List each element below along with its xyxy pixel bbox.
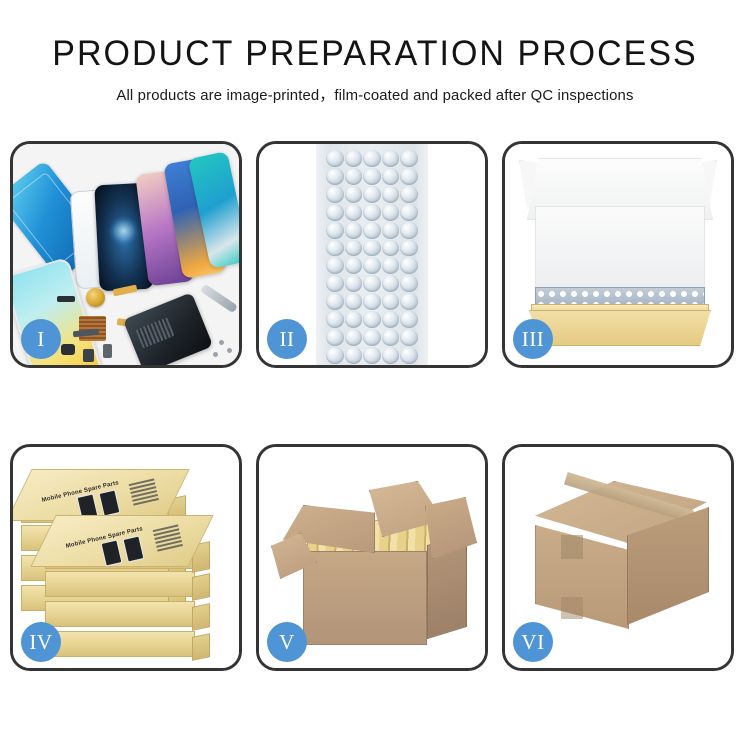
step-panel-5: V xyxy=(256,444,488,671)
step-panel-6: VI xyxy=(502,444,734,671)
bubble xyxy=(363,293,381,310)
tape-patch-lower xyxy=(561,597,583,619)
bubble xyxy=(400,275,418,292)
bubble xyxy=(400,186,418,203)
bubble xyxy=(382,168,400,185)
page-subtitle: All products are image-printed，film-coat… xyxy=(8,83,743,105)
bubble xyxy=(400,257,418,274)
bubble xyxy=(400,168,418,185)
bubble xyxy=(382,204,400,221)
bubble-grid xyxy=(326,150,418,364)
kraft-box xyxy=(45,571,195,597)
bubble xyxy=(345,311,363,328)
step-panel-3: III xyxy=(502,141,734,368)
step-panel-1: I xyxy=(10,141,242,368)
bubble xyxy=(326,293,344,310)
bubble xyxy=(382,347,400,364)
header: PRODUCT PREPARATION PROCESS All products… xyxy=(0,0,750,105)
tape-patch-upper xyxy=(561,535,583,559)
bubble xyxy=(382,257,400,274)
step-panel-4: Mobile Phone Spare Parts Mobile Phone Sp… xyxy=(10,444,242,671)
bubble xyxy=(363,257,381,274)
bubble xyxy=(363,168,381,185)
bubble xyxy=(382,150,400,167)
bubble xyxy=(400,240,418,257)
bubble xyxy=(363,240,381,257)
bubble xyxy=(326,186,344,203)
bubble xyxy=(345,329,363,346)
step-badge-5: V xyxy=(267,622,307,662)
foam-lining xyxy=(535,206,705,290)
chip-part xyxy=(103,344,112,358)
bubble xyxy=(400,311,418,328)
step-badge-3: III xyxy=(513,319,553,359)
bubble xyxy=(326,168,344,185)
carton-flap-right xyxy=(425,497,477,559)
chip-part xyxy=(61,344,75,355)
bubble xyxy=(326,347,344,364)
bubble xyxy=(382,275,400,292)
kraft-box-front xyxy=(529,310,711,346)
bubble xyxy=(345,257,363,274)
bubble xyxy=(363,347,381,364)
bubble xyxy=(345,275,363,292)
bubble xyxy=(400,150,418,167)
gold-coil-part xyxy=(86,288,105,307)
bubble xyxy=(326,257,344,274)
kraft-box xyxy=(45,631,195,657)
bubble xyxy=(363,186,381,203)
bubble xyxy=(400,293,418,310)
bubble xyxy=(382,240,400,257)
bubble xyxy=(363,311,381,328)
bubble xyxy=(363,150,381,167)
screw-part xyxy=(213,352,218,357)
chip-part xyxy=(57,296,75,302)
bubble xyxy=(326,329,344,346)
bubble xyxy=(400,222,418,239)
bubble xyxy=(382,186,400,203)
process-steps-grid: I II III xyxy=(10,141,747,671)
bubble xyxy=(382,329,400,346)
step-badge-4: IV xyxy=(21,622,61,662)
bubble xyxy=(345,240,363,257)
bubble xyxy=(326,311,344,328)
bubble xyxy=(363,275,381,292)
bubble xyxy=(345,293,363,310)
bubble xyxy=(382,311,400,328)
bubble xyxy=(363,329,381,346)
bubble xyxy=(363,222,381,239)
screw-part xyxy=(219,340,224,345)
bubble xyxy=(382,293,400,310)
kraft-box xyxy=(45,601,195,627)
bubble xyxy=(326,275,344,292)
product-preparation-infographic: PRODUCT PREPARATION PROCESS All products… xyxy=(0,0,750,750)
bubble xyxy=(400,347,418,364)
screw-part xyxy=(227,348,232,353)
carton-front-face xyxy=(303,551,427,645)
chip-part xyxy=(83,349,94,362)
step-panel-2: II xyxy=(256,141,488,368)
bubble xyxy=(363,204,381,221)
bubble xyxy=(345,168,363,185)
repair-tool xyxy=(200,284,238,314)
step-badge-6: VI xyxy=(513,622,553,662)
bubble xyxy=(400,204,418,221)
bubble xyxy=(345,150,363,167)
bubble xyxy=(345,204,363,221)
bubble xyxy=(326,240,344,257)
bubble xyxy=(326,150,344,167)
bubble xyxy=(326,222,344,239)
bubble xyxy=(345,222,363,239)
bubble xyxy=(382,222,400,239)
bubble xyxy=(345,347,363,364)
step-badge-1: I xyxy=(21,319,61,359)
bubble xyxy=(345,186,363,203)
page-title: PRODUCT PREPARATION PROCESS xyxy=(11,34,739,74)
bubble xyxy=(326,204,344,221)
bubble xyxy=(400,329,418,346)
step-badge-2: II xyxy=(267,319,307,359)
phone-logic-board xyxy=(123,292,213,365)
